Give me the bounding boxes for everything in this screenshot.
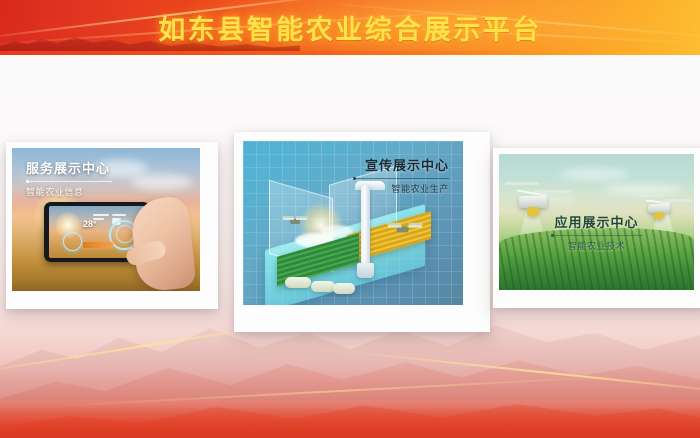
hud-data-bar <box>112 214 126 216</box>
hud-status-chip <box>83 242 113 248</box>
card-promotion-display-center[interactable]: 宣传展示中心 智能农业生产 <box>234 132 490 332</box>
drone-rotor <box>638 194 664 197</box>
card-application-photo: 应用展示中心 智能农业技术 <box>499 154 694 290</box>
caption-divider <box>353 178 449 179</box>
drone-body <box>290 219 300 224</box>
drone-rotor <box>282 216 294 218</box>
drone-rotor <box>533 190 571 193</box>
drone-rotor <box>409 223 423 225</box>
caption-dot <box>353 177 356 180</box>
caption-dot <box>551 234 554 237</box>
drone-payload <box>654 212 664 219</box>
drone-rotor <box>505 182 539 185</box>
drone-payload <box>527 207 539 216</box>
card-service-caption: 服务展示中心 智能农业信息 <box>26 158 112 198</box>
target-ring-inner-icon <box>116 225 134 243</box>
card-promotion-title: 宣传展示中心 <box>353 155 449 174</box>
iso-water-tank <box>357 263 374 278</box>
card-application-title: 应用展示中心 <box>551 212 643 231</box>
iso-hay-bale <box>333 283 355 294</box>
page-title: 如东县智能农业综合展示平台 <box>0 0 700 55</box>
drone-arm <box>388 225 401 227</box>
app-root: 如东县智能农业综合展示平台 28° <box>0 0 700 438</box>
hud-data-bar <box>93 218 104 220</box>
hud-temperature: 28° <box>83 219 97 229</box>
drone-icon <box>388 222 422 239</box>
drone-arm <box>409 225 422 227</box>
card-service-display-center[interactable]: 28° 服务展示中心 智能农业信息 <box>6 142 218 309</box>
card-promotion-photo: 宣传展示中心 智能农业生产 <box>243 141 463 305</box>
caption-divider <box>26 181 112 182</box>
drone-arm <box>296 218 307 220</box>
card-application-subtitle: 智能农业技术 <box>551 239 643 252</box>
scan-ring-icon <box>63 232 82 251</box>
drone-rotor <box>296 216 308 218</box>
card-promotion-subtitle: 智能农业生产 <box>353 182 449 195</box>
drone-arm <box>283 218 294 220</box>
card-promotion-caption: 宣传展示中心 智能农业生产 <box>353 155 449 195</box>
caption-divider <box>551 235 643 236</box>
drone-body <box>397 226 409 232</box>
card-service-photo: 28° 服务展示中心 智能农业信息 <box>12 148 200 291</box>
drone-rotor <box>387 223 401 225</box>
drone-icon <box>636 190 692 224</box>
card-application-display-center[interactable]: 应用展示中心 智能农业技术 <box>493 148 700 308</box>
caption-dot <box>26 180 29 183</box>
drone-icon <box>283 215 307 227</box>
header-banner: 如东县智能农业综合展示平台 <box>0 0 700 55</box>
card-service-subtitle: 智能农业信息 <box>26 185 112 198</box>
iso-hay-bale <box>285 277 311 288</box>
background-red-band <box>0 404 700 438</box>
drone-rotor <box>664 199 692 202</box>
iso-irrigation-arch <box>361 185 370 269</box>
hud-data-bar <box>93 214 109 216</box>
cloud <box>130 174 192 190</box>
iso-hay-bale <box>311 281 335 292</box>
card-service-title: 服务展示中心 <box>26 158 112 177</box>
card-application-caption: 应用展示中心 智能农业技术 <box>551 212 643 252</box>
